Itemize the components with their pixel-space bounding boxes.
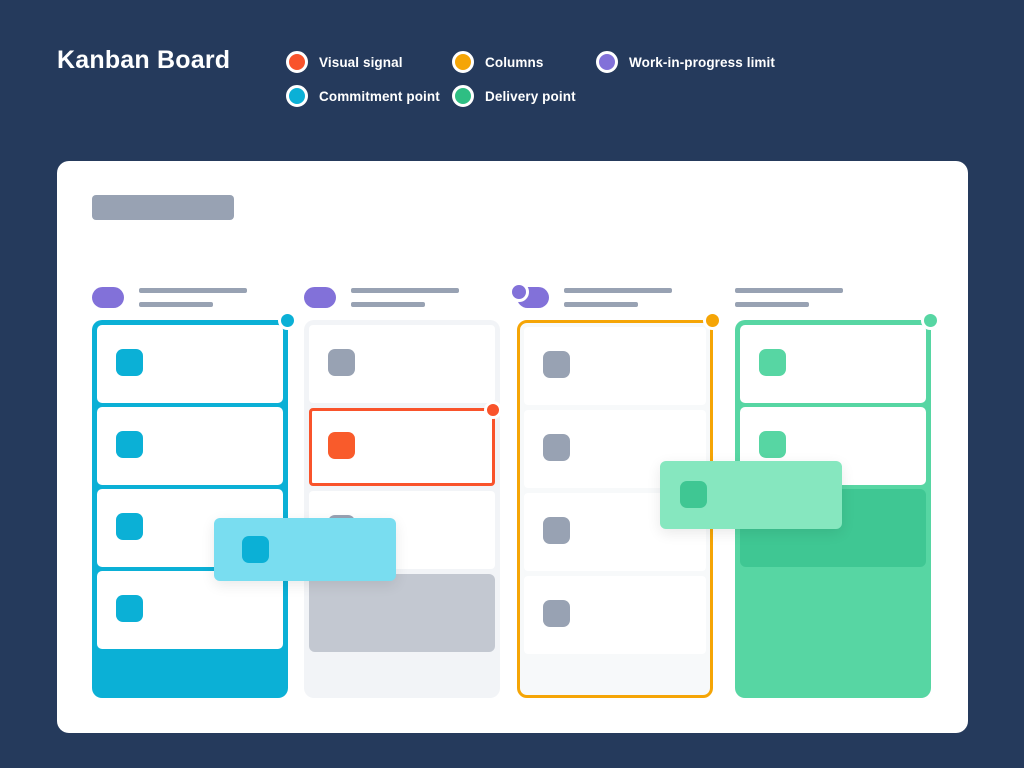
column-pill-icon: [92, 287, 124, 308]
kanban-card[interactable]: [97, 325, 283, 403]
column-subtitle-placeholder: [351, 302, 425, 307]
kanban-column-1[interactable]: [92, 320, 288, 698]
column-header-4: [735, 283, 931, 313]
legend-dot-icon: [452, 51, 474, 73]
kanban-card[interactable]: [524, 576, 706, 654]
kanban-column-2[interactable]: [304, 320, 500, 698]
kanban-card[interactable]: [524, 327, 706, 405]
legend-label: Delivery point: [485, 89, 576, 104]
column-subtitle-placeholder: [564, 302, 638, 307]
column-header-3: [517, 283, 713, 313]
board-canvas: [57, 161, 968, 733]
column-pill-icon: [517, 287, 549, 308]
card-chip-icon: [543, 351, 570, 378]
card-chip-icon: [759, 431, 786, 458]
card-chip-icon: [543, 517, 570, 544]
legend-item-commitment-point: Commitment point: [286, 85, 440, 107]
visual-signal-marker-icon: [484, 401, 502, 419]
legend-item-delivery-point: Delivery point: [452, 85, 576, 107]
column-title-placeholder: [351, 288, 459, 293]
legend-label: Work-in-progress limit: [629, 55, 775, 70]
card-chip-icon: [328, 432, 355, 459]
card-chip-icon: [116, 349, 143, 376]
card-chip-icon: [543, 434, 570, 461]
legend-label: Columns: [485, 55, 543, 70]
commitment-point-marker-icon: [278, 311, 297, 330]
card-chip-icon: [543, 600, 570, 627]
dragging-card-green[interactable]: [660, 461, 842, 529]
card-chip-icon: [116, 595, 143, 622]
column-title-placeholder: [139, 288, 247, 293]
legend-dot-icon: [596, 51, 618, 73]
column-header-1: [92, 283, 288, 313]
card-drop-placeholder: [309, 574, 495, 652]
delivery-point-marker-icon: [921, 311, 940, 330]
column-title-placeholder: [735, 288, 843, 293]
board-title-placeholder: [92, 195, 234, 220]
kanban-card[interactable]: [740, 325, 926, 403]
column-subtitle-placeholder: [139, 302, 213, 307]
columns-marker-icon: [703, 311, 722, 330]
legend-dot-icon: [286, 85, 308, 107]
kanban-card-highlighted[interactable]: [309, 408, 495, 486]
card-chip-icon: [328, 349, 355, 376]
card-chip-icon: [680, 481, 707, 508]
column-pill-icon: [304, 287, 336, 308]
dragging-card-cyan[interactable]: [214, 518, 396, 581]
card-chip-icon: [116, 431, 143, 458]
column-title-placeholder: [564, 288, 672, 293]
wip-limit-marker-icon: [509, 282, 529, 302]
legend-dot-icon: [452, 85, 474, 107]
legend-item-visual-signal: Visual signal: [286, 51, 403, 73]
legend-item-wip-limit: Work-in-progress limit: [596, 51, 775, 73]
column-subtitle-placeholder: [735, 302, 809, 307]
kanban-card[interactable]: [97, 571, 283, 649]
card-chip-icon: [759, 349, 786, 376]
column-header-2: [304, 283, 500, 313]
card-chip-icon: [116, 513, 143, 540]
legend-label: Visual signal: [319, 55, 403, 70]
legend-item-columns: Columns: [452, 51, 543, 73]
legend-label: Commitment point: [319, 89, 440, 104]
kanban-card[interactable]: [309, 325, 495, 403]
kanban-card[interactable]: [97, 407, 283, 485]
legend-dot-icon: [286, 51, 308, 73]
page-title: Kanban Board: [57, 46, 230, 75]
page-header: Kanban Board Visual signal Columns Work-…: [0, 0, 1024, 135]
card-chip-icon: [242, 536, 269, 563]
